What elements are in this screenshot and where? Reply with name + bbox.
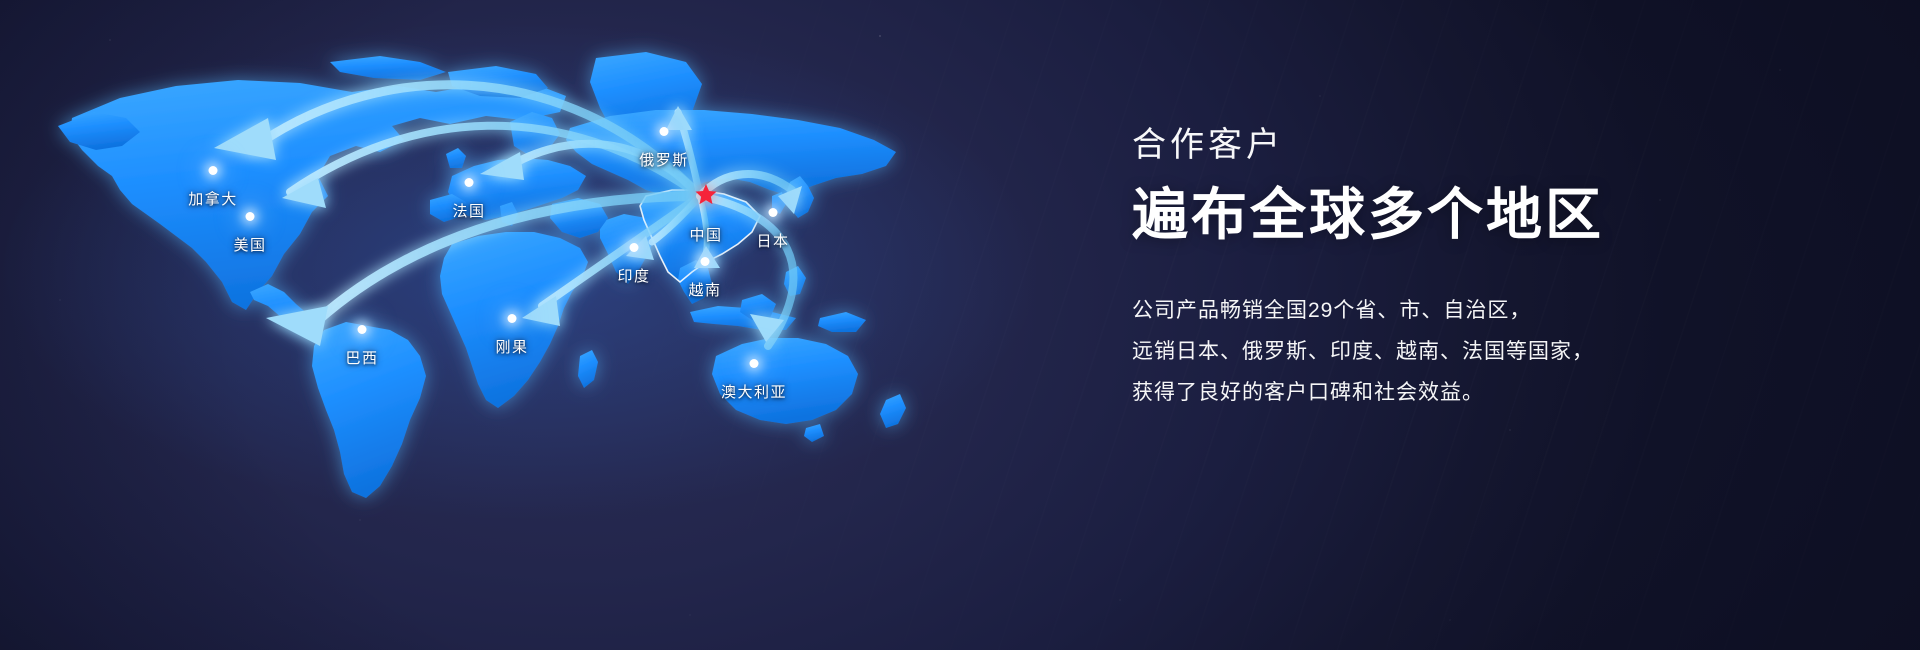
paragraph-line-1: 公司产品畅销全国29个省、市、自治区，	[1132, 291, 1872, 332]
world-map-svg	[0, 0, 1140, 650]
banner-paragraph: 公司产品畅销全国29个省、市、自治区， 远销日本、俄罗斯、印度、越南、法国等国家…	[1132, 291, 1872, 414]
world-map: 加拿大 美国 巴西 法国 俄罗斯 中国 日本	[0, 0, 1140, 650]
paragraph-line-2: 远销日本、俄罗斯、印度、越南、法国等国家，	[1132, 332, 1872, 373]
paragraph-line-3: 获得了良好的客户口碑和社会效益。	[1132, 373, 1872, 414]
banner-copy: 合作客户 遍布全球多个地区 公司产品畅销全国29个省、市、自治区， 远销日本、俄…	[1132, 128, 1872, 414]
global-clients-banner: 加拿大 美国 巴西 法国 俄罗斯 中国 日本	[0, 0, 1920, 650]
banner-headline: 遍布全球多个地区	[1132, 184, 1872, 247]
banner-eyebrow: 合作客户	[1132, 128, 1872, 162]
